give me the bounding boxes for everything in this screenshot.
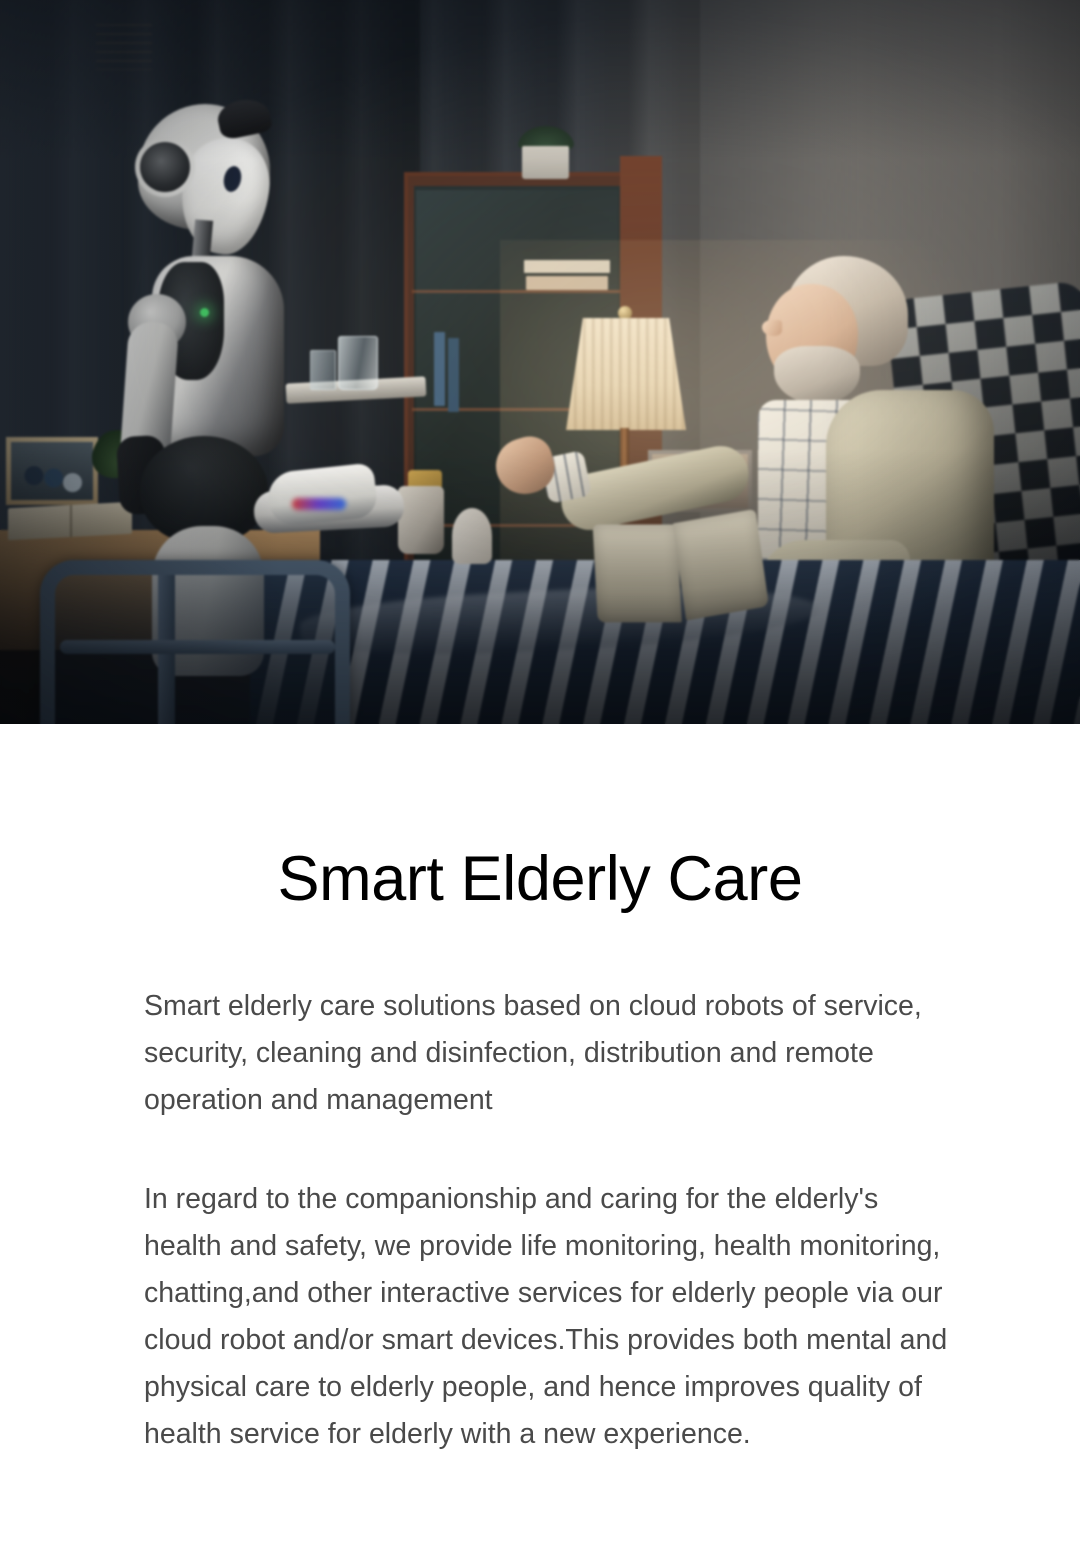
- book-text-lines: [96, 24, 152, 70]
- glass-of-water: [338, 336, 378, 390]
- article-body: Smart elderly care solutions based on cl…: [68, 983, 1012, 1458]
- hero-image: [0, 0, 1080, 724]
- page-title: Smart Elderly Care: [0, 848, 1080, 911]
- elderly-man-nose: [762, 320, 782, 336]
- bed-rail-bar: [60, 640, 335, 654]
- article-paragraph: Smart elderly care solutions based on cl…: [144, 983, 950, 1124]
- robot-ear-sensor: [140, 142, 190, 192]
- photo-content: [11, 442, 93, 500]
- robot-rgb-indicator-led: [292, 498, 346, 510]
- book-left-page: [593, 525, 682, 623]
- elderly-man-beard: [774, 346, 860, 404]
- page-root: Smart Elderly Care Smart elderly care so…: [0, 0, 1080, 1561]
- lamp-shade: [566, 318, 686, 430]
- book-right-page: [673, 509, 769, 621]
- robot-head-cap: [215, 95, 273, 141]
- small-jar-on-tray: [310, 350, 336, 390]
- potted-plant-pot: [522, 146, 569, 179]
- desk-photo-frame: [6, 437, 98, 505]
- open-book: [590, 511, 769, 626]
- lamp-finial: [618, 306, 632, 320]
- article-paragraph: In regard to the companionship and carin…: [144, 1176, 950, 1458]
- hero-scene: [0, 0, 1080, 724]
- robot-status-led: [200, 308, 209, 317]
- article-content: Smart Elderly Care Smart elderly care so…: [0, 724, 1080, 1458]
- nightstand-cup: [452, 508, 492, 564]
